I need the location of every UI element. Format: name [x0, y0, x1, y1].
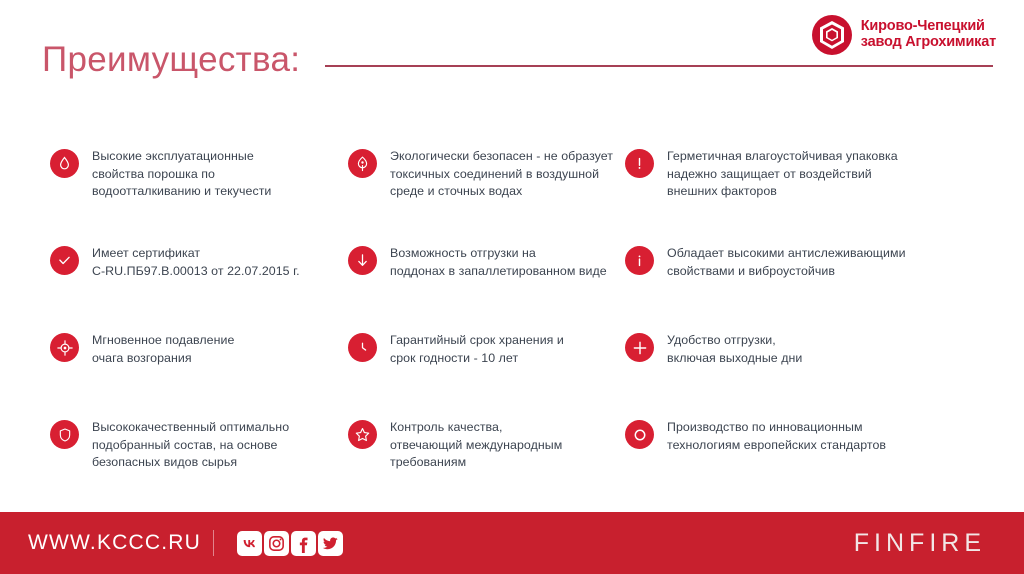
feature-line: Обладает высокими антислеживающими — [667, 245, 906, 263]
feature-item: Герметичная влагоустойчивая упаковка над… — [625, 148, 1024, 222]
feature-text: Высококачественный оптимально подобранны… — [92, 419, 289, 472]
clock-icon — [348, 333, 377, 362]
feature-line: срок годности - 10 лет — [390, 350, 564, 368]
feature-line: внешних факторов — [667, 183, 898, 201]
feature-text: Удобство отгрузки, включая выходные дни — [667, 332, 802, 367]
feature-line: Гарантийный срок хранения и — [390, 332, 564, 350]
footer-bar: WWW.KCCC.RU — [0, 512, 1024, 574]
feature-line: Мгновенное подавление — [92, 332, 234, 350]
title-divider-rule — [325, 65, 993, 67]
feature-line: отвечающий международным — [390, 437, 562, 455]
twitter-icon[interactable] — [318, 531, 343, 556]
feature-line: Высокие эксплуатационные — [92, 148, 271, 166]
feature-item: Высококачественный оптимально подобранны… — [50, 419, 310, 483]
ring-circle-icon — [625, 420, 654, 449]
column-1: Высокие эксплуатационные свойства порошк… — [0, 148, 310, 506]
logo-line-2: завод Агрохимикат — [861, 35, 996, 51]
feature-line: включая выходные дни — [667, 350, 802, 368]
instagram-icon[interactable] — [264, 531, 289, 556]
feature-line: надежно защищает от воздействий — [667, 166, 898, 184]
hexagon-shield-logo-icon — [811, 14, 853, 56]
feature-item: Гарантийный срок хранения и срок годност… — [348, 332, 620, 396]
feature-line: технологиям европейских стандартов — [667, 437, 886, 455]
website-url[interactable]: WWW.KCCC.RU — [28, 531, 201, 555]
feature-text: Герметичная влагоустойчивая упаковка над… — [667, 148, 898, 201]
feature-item: Высокие эксплуатационные свойства порошк… — [50, 148, 310, 222]
feature-line: С-RU.ПБ97.В.00013 от 22.07.2015 г. — [92, 263, 300, 281]
feature-item: Производство по инновационным технология… — [625, 419, 1024, 483]
feature-line: водоотталкиванию и текучести — [92, 183, 271, 201]
feature-line: Контроль качества, — [390, 419, 562, 437]
feature-item: Удобство отгрузки, включая выходные дни — [625, 332, 1024, 396]
slide-root: Кирово-Чепецкий завод Агрохимикат Преиму… — [0, 0, 1024, 574]
plus-icon — [625, 333, 654, 362]
page-title: Преимущества: — [42, 40, 300, 80]
feature-line: поддонах в запаллетированном виде — [390, 263, 607, 281]
feature-item: Обладает высокими антислеживающими свойс… — [625, 245, 1024, 309]
feature-line: токсичных соединений в воздушной — [390, 166, 613, 184]
feature-line: Удобство отгрузки, — [667, 332, 802, 350]
eco-leaf-icon — [348, 149, 377, 178]
star-icon — [348, 420, 377, 449]
feature-item: Контроль качества, отвечающий международ… — [348, 419, 620, 483]
feature-text: Обладает высокими антислеживающими свойс… — [667, 245, 906, 280]
feature-text: Высокие эксплуатационные свойства порошк… — [92, 148, 271, 201]
feature-line: Герметичная влагоустойчивая упаковка — [667, 148, 898, 166]
column-3: Герметичная влагоустойчивая упаковка над… — [620, 148, 1024, 506]
feature-item: Мгновенное подавление очага возгорания — [50, 332, 310, 396]
info-icon — [625, 246, 654, 275]
feature-line: безопасных видов сырья — [92, 454, 289, 472]
features-grid: Высокие эксплуатационные свойства порошк… — [0, 148, 1024, 506]
feature-text: Имеет сертификат С-RU.ПБ97.В.00013 от 22… — [92, 245, 300, 280]
feature-item: Экологически безопасен - не образует ток… — [348, 148, 620, 222]
shield-icon — [50, 420, 79, 449]
feature-line: Возможность отгрузки на — [390, 245, 607, 263]
feature-line: очага возгорания — [92, 350, 234, 368]
feature-item: Имеет сертификат С-RU.ПБ97.В.00013 от 22… — [50, 245, 310, 309]
feature-text: Возможность отгрузки на поддонах в запал… — [390, 245, 607, 280]
feature-line: требованиям — [390, 454, 562, 472]
check-mark-icon — [50, 246, 79, 275]
arrow-down-icon — [348, 246, 377, 275]
feature-text: Производство по инновационным технология… — [667, 419, 886, 454]
facebook-icon[interactable] — [291, 531, 316, 556]
feature-line: подобранный состав, на основе — [92, 437, 289, 455]
feature-line: Производство по инновационным — [667, 419, 886, 437]
feature-text: Контроль качества, отвечающий международ… — [390, 419, 562, 472]
logo-wordmark: Кирово-Чепецкий завод Агрохимикат — [861, 19, 996, 50]
finfire-brand: FINFIRE — [854, 529, 986, 558]
crosshair-target-icon — [50, 333, 79, 362]
feature-line: Высококачественный оптимально — [92, 419, 289, 437]
feature-text: Мгновенное подавление очага возгорания — [92, 332, 234, 367]
feature-line: свойствами и виброустойчив — [667, 263, 906, 281]
feature-line: Экологически безопасен - не образует — [390, 148, 613, 166]
water-drop-icon — [50, 149, 79, 178]
company-logo: Кирово-Чепецкий завод Агрохимикат — [811, 14, 996, 56]
social-links — [236, 531, 344, 556]
feature-line: среде и сточных водах — [390, 183, 613, 201]
footer-divider — [213, 530, 214, 556]
feature-text: Гарантийный срок хранения и срок годност… — [390, 332, 564, 367]
vk-icon[interactable] — [237, 531, 262, 556]
feature-item: Возможность отгрузки на поддонах в запал… — [348, 245, 620, 309]
feature-line: Имеет сертификат — [92, 245, 300, 263]
column-2: Экологически безопасен - не образует ток… — [310, 148, 620, 506]
exclamation-icon — [625, 149, 654, 178]
feature-text: Экологически безопасен - не образует ток… — [390, 148, 613, 201]
logo-line-1: Кирово-Чепецкий — [861, 19, 996, 35]
feature-line: свойства порошка по — [92, 166, 271, 184]
